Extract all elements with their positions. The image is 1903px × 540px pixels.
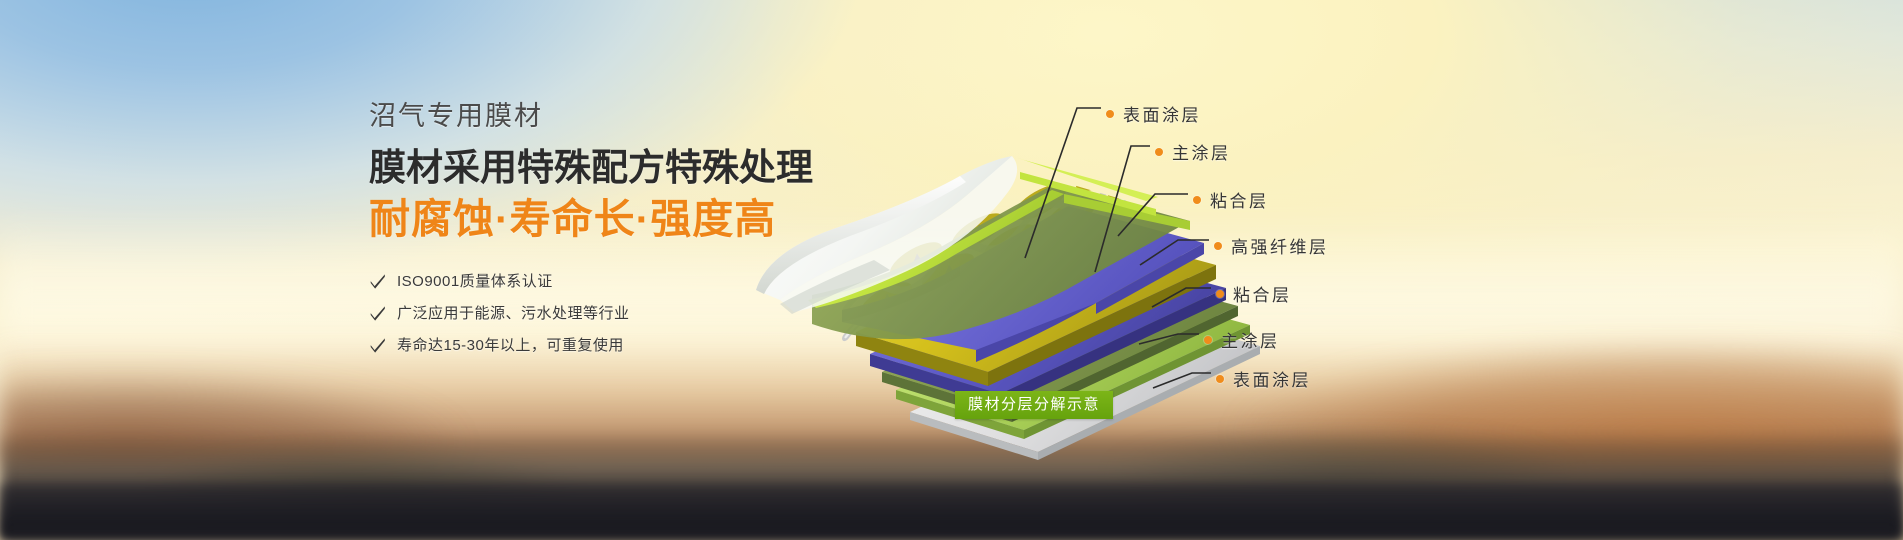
callout-label: 粘合层	[1233, 281, 1292, 306]
promo-banner: 沼气专用膜材 膜材采用特殊配方特殊处理 耐腐蚀·寿命长·强度高 ISO9001质…	[0, 0, 1903, 540]
callout-dot-icon	[1214, 242, 1222, 250]
foreground-land-shadow	[0, 484, 1903, 540]
list-item-label: 广泛应用于能源、污水处理等行业	[397, 306, 630, 321]
callout-label: 表面涂层	[1123, 101, 1201, 126]
callout-label: 粘合层	[1210, 187, 1269, 212]
list-item-label: 寿命达15-30年以上，可重复使用	[397, 338, 624, 353]
callout-surface-coating-top: 表面涂层	[1106, 101, 1201, 126]
callout-high-strength-fiber-layer: 高强纤维层	[1214, 233, 1329, 258]
callout-dot-icon	[1155, 148, 1163, 156]
callout-label: 主涂层	[1221, 327, 1280, 352]
check-mark-icon	[369, 273, 386, 290]
callout-dot-icon	[1193, 196, 1201, 204]
callout-main-coating-bottom: 主涂层	[1204, 327, 1280, 352]
check-mark-icon	[369, 305, 386, 322]
callout-surface-coating-bottom: 表面涂层	[1216, 366, 1311, 391]
callout-label: 表面涂层	[1233, 366, 1311, 391]
callout-adhesive-layer-bottom: 粘合层	[1216, 281, 1292, 306]
callout-label: 主涂层	[1172, 139, 1231, 164]
list-item-label: ISO9001质量体系认证	[397, 274, 553, 289]
callout-adhesive-layer-top: 粘合层	[1193, 187, 1269, 212]
callout-dot-icon	[1216, 375, 1224, 383]
status-badge: 膜材分层分解示意	[955, 391, 1113, 419]
callout-main-coating-top: 主涂层	[1155, 139, 1231, 164]
check-mark-icon	[369, 337, 386, 354]
callout-dot-icon	[1106, 110, 1114, 118]
callout-label: 高强纤维层	[1231, 233, 1329, 258]
callout-dot-icon	[1204, 336, 1212, 344]
callout-dot-icon	[1216, 290, 1224, 298]
